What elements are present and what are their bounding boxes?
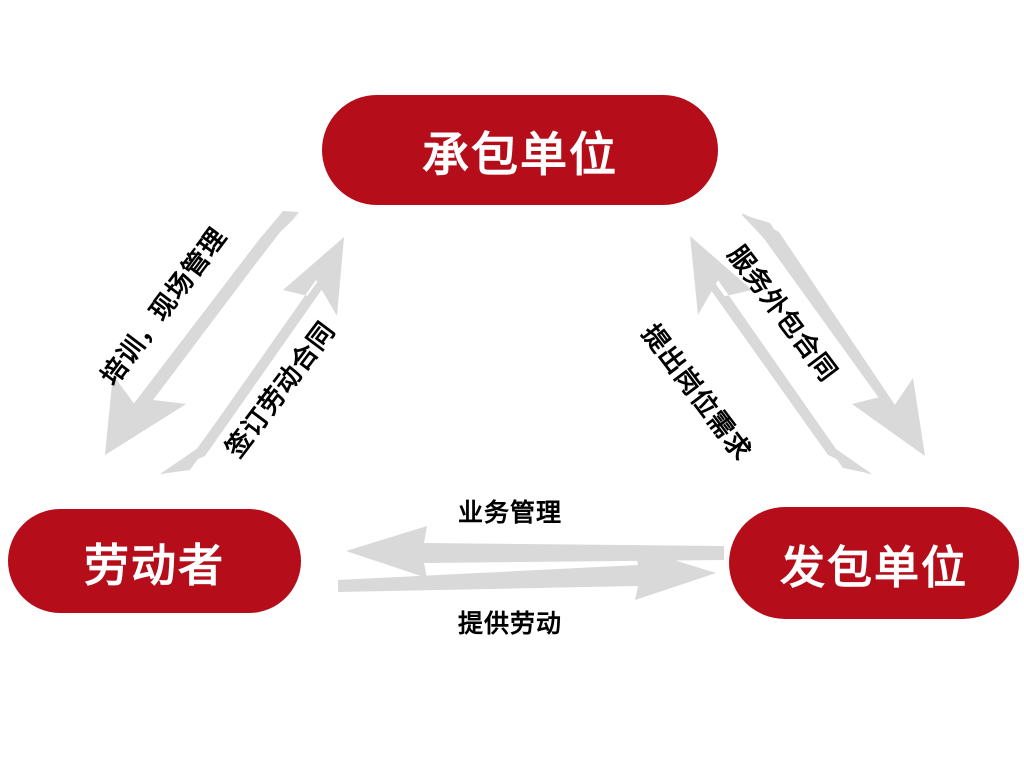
diagram-canvas: 承包单位 劳动者 发包单位 培训，现场管理 签订劳动合同 服务外包合同 提出岗位… bbox=[0, 0, 1024, 768]
node-client-label: 发包单位 bbox=[780, 531, 968, 596]
node-contractor-label: 承包单位 bbox=[422, 116, 618, 185]
edge-label-provide-labor: 提供劳动 bbox=[458, 604, 562, 640]
node-client[interactable]: 发包单位 bbox=[729, 507, 1019, 619]
node-worker-label: 劳动者 bbox=[84, 529, 225, 594]
node-contractor[interactable]: 承包单位 bbox=[322, 95, 718, 205]
node-worker[interactable]: 劳动者 bbox=[8, 509, 301, 613]
edge-label-business-mgmt: 业务管理 bbox=[458, 493, 562, 529]
arrow-outsourcing-shaft bbox=[742, 213, 920, 452]
